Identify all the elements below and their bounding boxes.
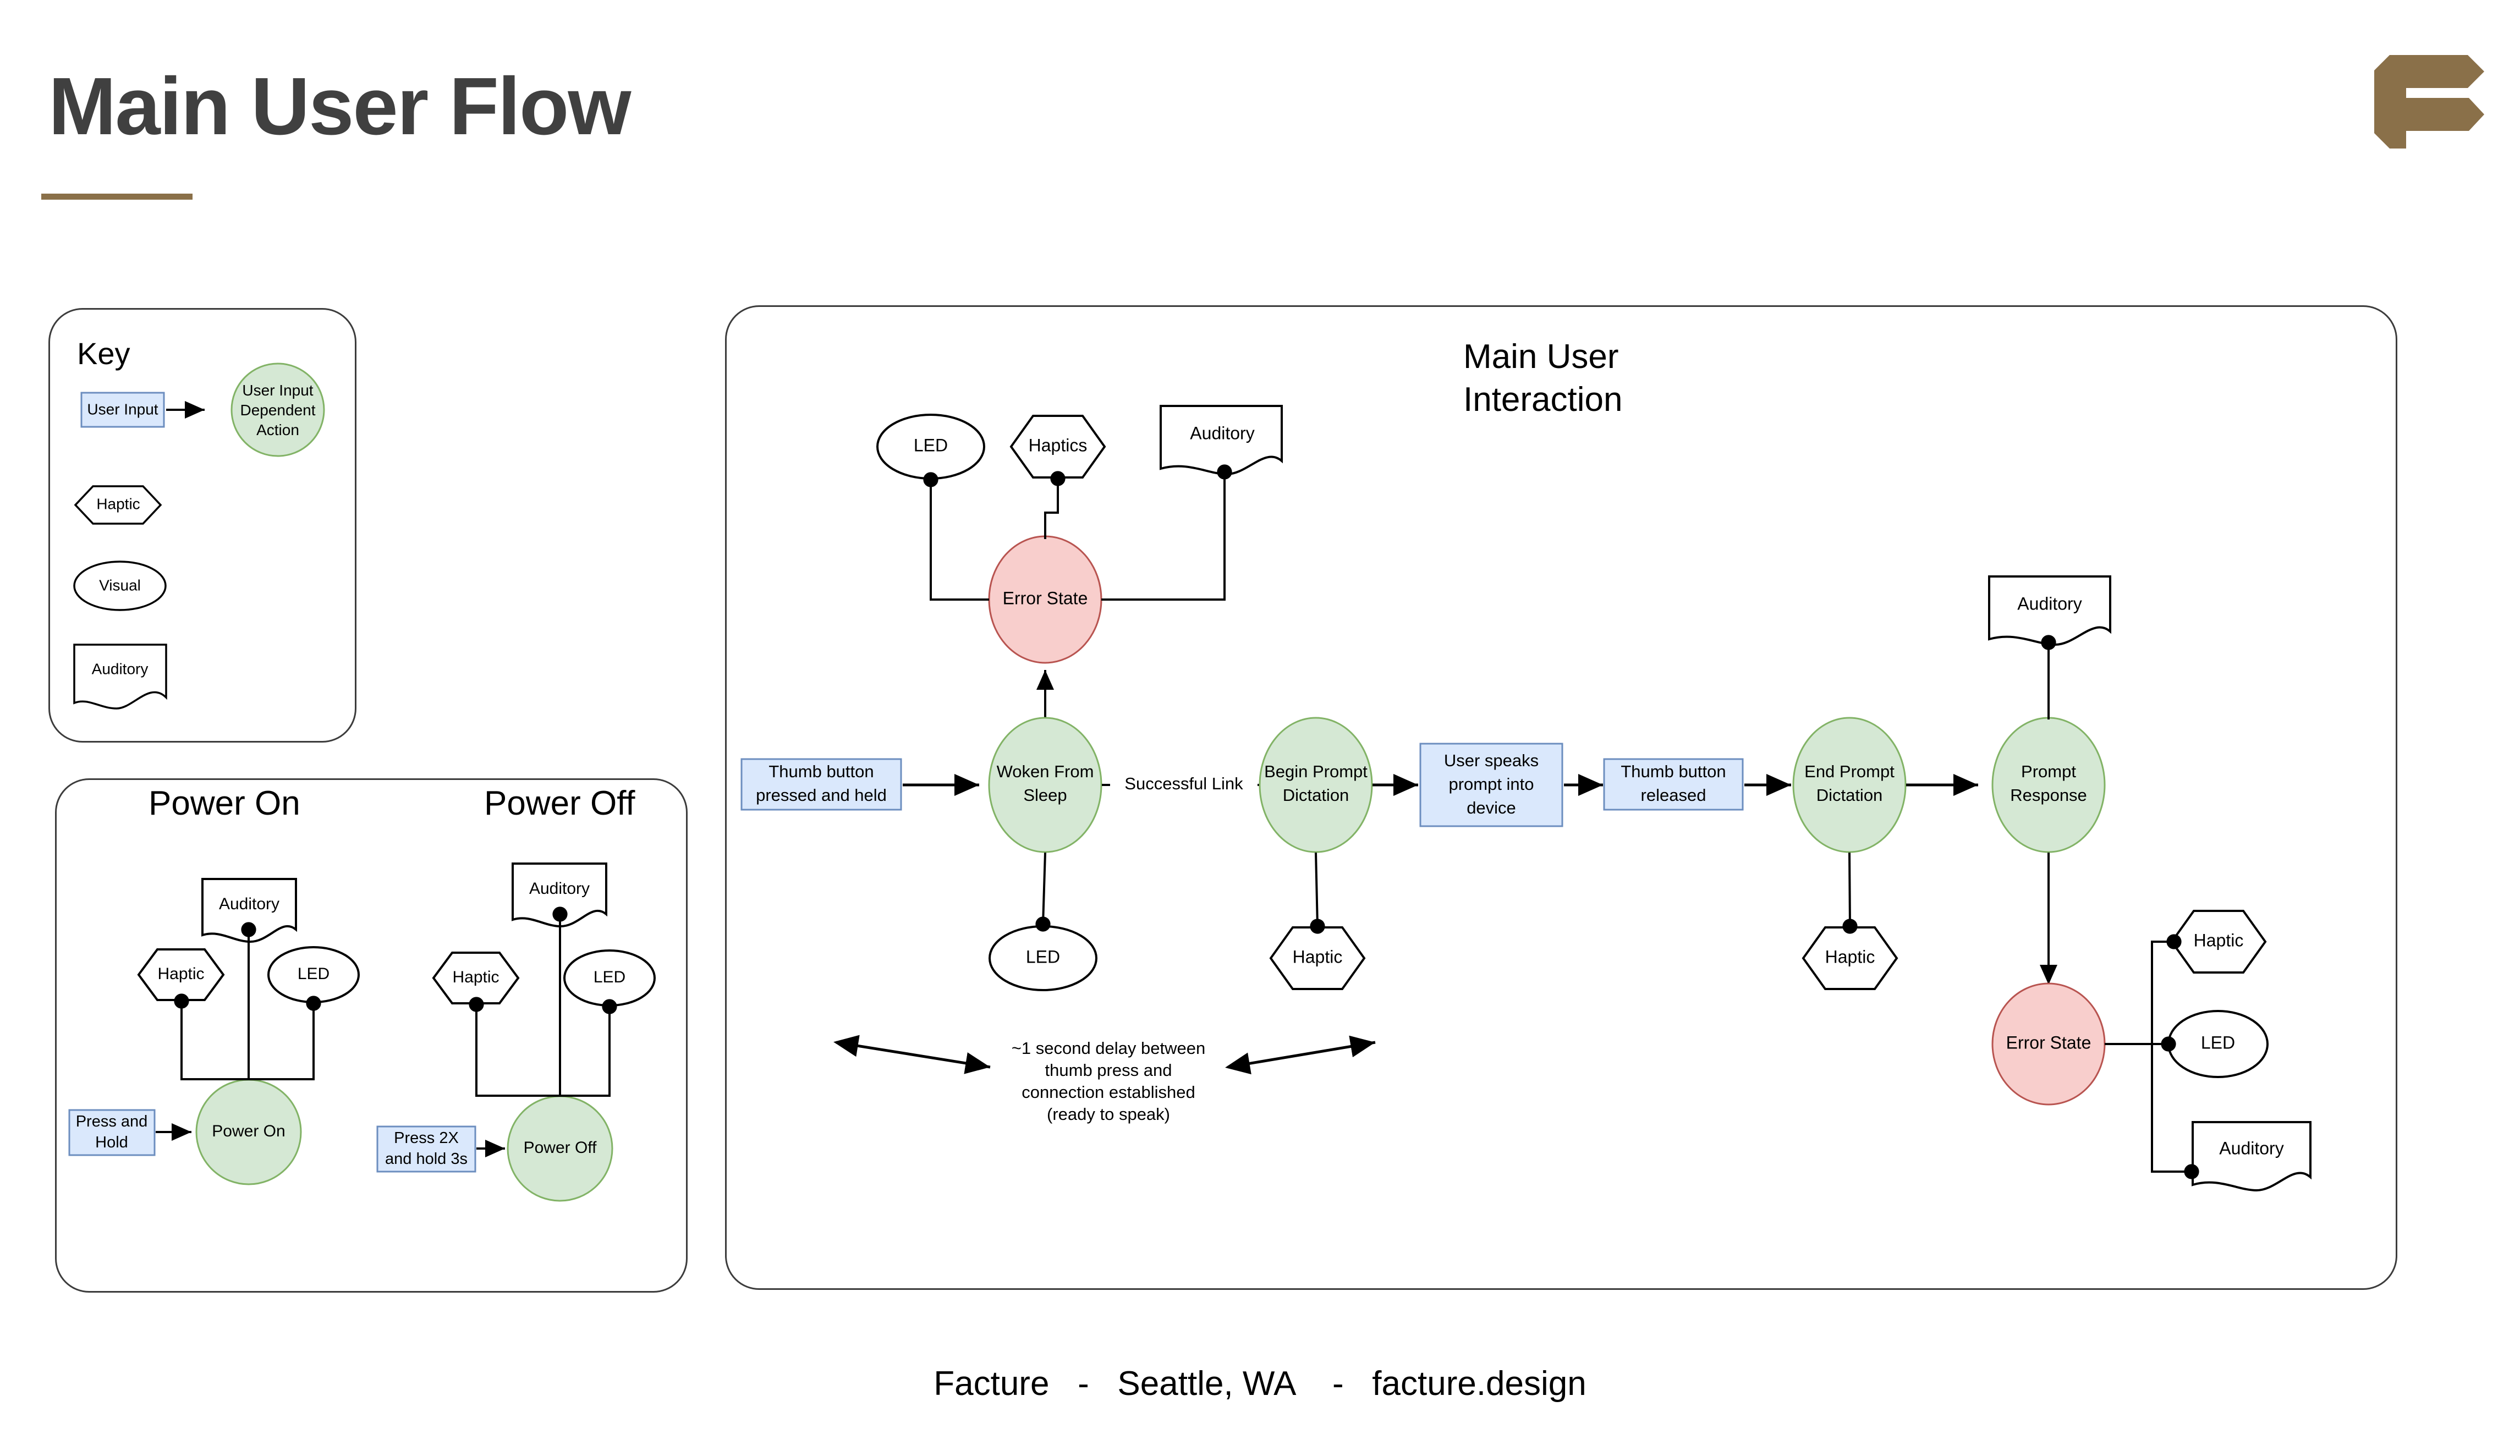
slide-canvas: Main User Flow Key Power On Power Off Ma…	[0, 0, 2520, 1456]
power-panel	[55, 778, 688, 1293]
power-on-heading: Power On	[149, 784, 300, 823]
slide-footer: Facture - Seattle, WA - facture.design	[0, 1364, 2520, 1403]
main-user-interaction-panel	[725, 305, 2397, 1290]
facture-f-logo	[2352, 44, 2490, 149]
key-panel	[48, 308, 356, 743]
key-panel-title: Key	[77, 336, 130, 371]
title-underline-rule	[41, 194, 193, 200]
page-title: Main User Flow	[48, 66, 630, 147]
main-interaction-title: Main UserInteraction	[1463, 336, 1623, 421]
power-off-heading: Power Off	[484, 784, 635, 823]
